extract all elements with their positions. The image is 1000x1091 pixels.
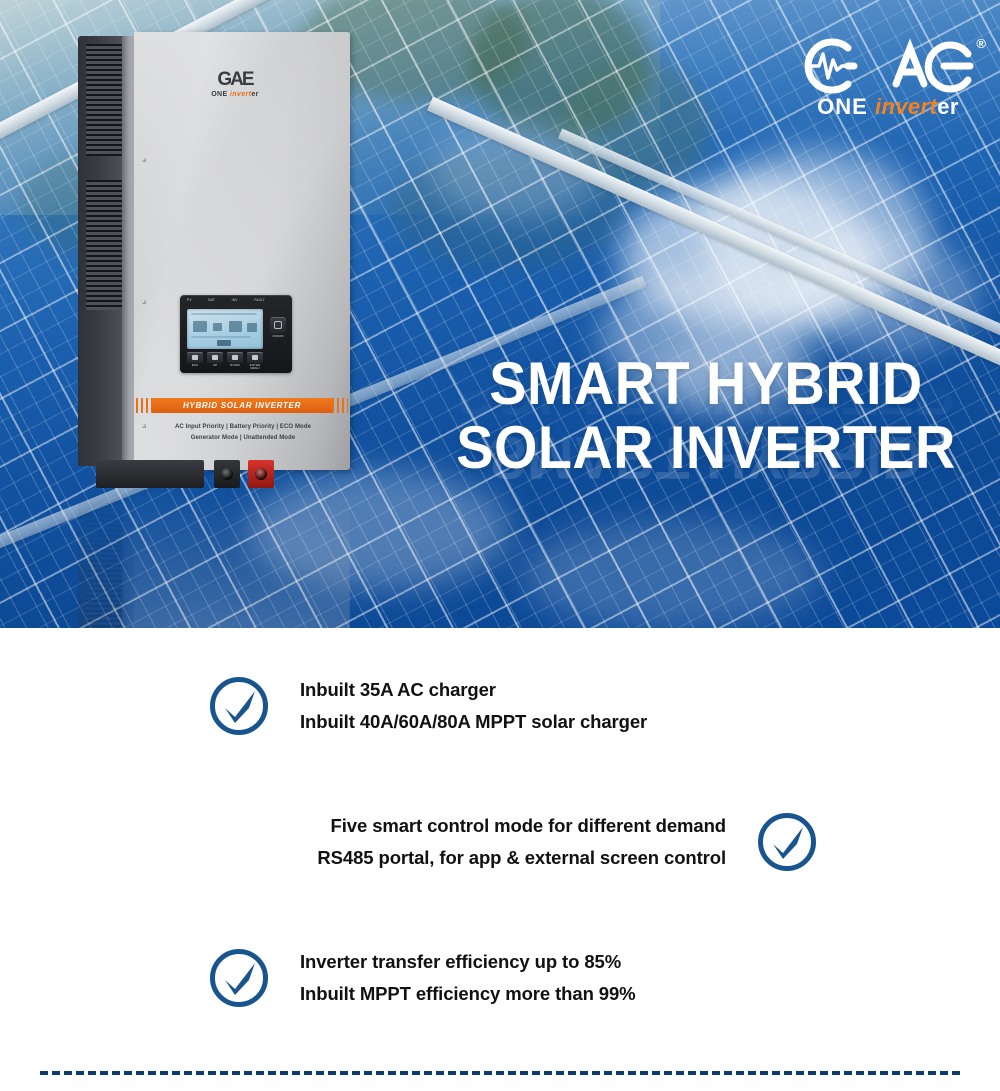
power-button-label: ON/OFF <box>270 334 286 338</box>
headline-line-1: SMART HYBRID <box>449 352 962 416</box>
power-button[interactable]: ON/OFF <box>270 317 286 333</box>
button-esc[interactable]: ESC <box>187 352 203 370</box>
product-logo: GAE ONE inverter <box>180 70 290 98</box>
registered-trademark-symbol: ® <box>976 36 986 51</box>
feature-item-3: Inverter transfer efficiency up to 85% I… <box>208 946 636 1010</box>
power-icon <box>274 321 282 329</box>
product-logo-one: ONE <box>211 91 230 98</box>
hero-banner: HYBRID SOLAR INVERTER AC Input Priority … <box>0 0 1000 628</box>
feature-text-1: Inbuilt 35A AC charger Inbuilt 40A/60A/8… <box>300 674 647 738</box>
check-circle-icon <box>756 811 818 873</box>
screw-icon <box>142 300 146 304</box>
button-down-label: DOWN <box>227 364 243 367</box>
led-label: BAT <box>208 299 215 302</box>
product-modes-text: AC Input Priority | Battery Priority | E… <box>148 422 338 445</box>
battery-terminal-negative <box>214 460 240 488</box>
button-up[interactable]: UP <box>207 352 223 370</box>
product-modes-line-1: AC Input Priority | Battery Priority | E… <box>148 422 338 433</box>
banner-bars-left <box>136 398 152 413</box>
led-indicator-pv: PV <box>187 299 192 302</box>
product-banner-text: HYBRID SOLAR INVERTER <box>183 401 301 410</box>
product-logo-mark: GAE <box>180 70 290 89</box>
product-banner: HYBRID SOLAR INVERTER <box>152 398 332 413</box>
check-circle-icon <box>208 947 270 1009</box>
led-label: INV <box>232 299 238 302</box>
button-esc-label: ESC <box>187 364 203 367</box>
product-logo-wordmark: ONE inverter <box>180 91 290 98</box>
feature-text-3: Inverter transfer efficiency up to 85% I… <box>300 946 636 1010</box>
button-esc-key[interactable] <box>187 352 203 363</box>
product-logo-invert: invert <box>230 91 251 98</box>
led-indicator-group: PV BAT INV FAULT <box>187 299 265 302</box>
led-label: FAULT <box>254 299 265 302</box>
features-section: Inbuilt 35A AC charger Inbuilt 40A/60A/8… <box>0 628 1000 1091</box>
check-circle-icon <box>208 675 270 737</box>
gae-logo-icon: ® <box>792 34 984 98</box>
button-down[interactable]: DOWN <box>227 352 243 370</box>
feature-1-line-1: Inbuilt 35A AC charger <box>300 674 647 706</box>
button-enter-label-line2: MENU <box>250 366 259 370</box>
lcd-display <box>187 309 263 349</box>
button-up-label: UP <box>207 364 223 367</box>
feature-2-line-2: RS485 portal, for app & external screen … <box>317 842 726 874</box>
feature-1-line-2: Inbuilt 40A/60A/80A MPPT solar charger <box>300 706 647 738</box>
feature-item-2: Five smart control mode for different de… <box>317 810 818 874</box>
button-enter-label: ENTERMENU <box>247 364 263 370</box>
screw-icon <box>142 424 146 428</box>
page-title: SMART HYBRID SOLAR INVERTER <box>449 352 962 479</box>
led-indicator-fault: FAULT <box>254 299 265 302</box>
brand-logo: ® ONE inverter <box>792 34 984 120</box>
product-reflection: HYBRID SOLAR INVERTER AC Input Priority … <box>78 485 350 628</box>
inverter-front-face: GAE ONE inverter PV BAT INV <box>134 32 350 470</box>
product-logo-er: er <box>251 91 258 98</box>
led-indicator-inv: INV <box>232 299 238 302</box>
button-enter-menu[interactable]: ENTERMENU <box>247 352 263 370</box>
control-panel[interactable]: PV BAT INV FAULT <box>180 295 292 373</box>
keypad: ESC UP DOWN ENTERMENU <box>187 352 263 370</box>
feature-2-line-1: Five smart control mode for different de… <box>317 810 726 842</box>
led-indicator-bat: BAT <box>208 299 215 302</box>
led-label: PV <box>187 299 192 302</box>
product-modes-line-2: Generator Mode | Unattended Mode <box>148 433 338 444</box>
button-up-key[interactable] <box>207 352 223 363</box>
button-enter-key[interactable] <box>247 352 263 363</box>
screw-icon <box>142 158 146 162</box>
battery-terminal-positive <box>248 460 274 488</box>
banner-bars-right <box>332 398 348 413</box>
ventilation-grille-icon <box>86 44 122 156</box>
cloud-reflection <box>520 520 820 628</box>
feature-text-2: Five smart control mode for different de… <box>317 810 726 874</box>
reflection-vent <box>86 515 122 627</box>
terminal-block <box>96 460 204 488</box>
section-divider <box>40 1071 960 1075</box>
headline-line-2: SOLAR INVERTER <box>449 416 962 480</box>
button-down-key[interactable] <box>227 352 243 363</box>
ventilation-grille-icon <box>86 180 122 310</box>
feature-3-line-2: Inbuilt MPPT efficiency more than 99% <box>300 978 636 1010</box>
feature-item-1: Inbuilt 35A AC charger Inbuilt 40A/60A/8… <box>208 674 647 738</box>
feature-3-line-1: Inverter transfer efficiency up to 85% <box>300 946 636 978</box>
product-inverter-unit: GAE ONE inverter PV BAT INV <box>78 36 350 484</box>
